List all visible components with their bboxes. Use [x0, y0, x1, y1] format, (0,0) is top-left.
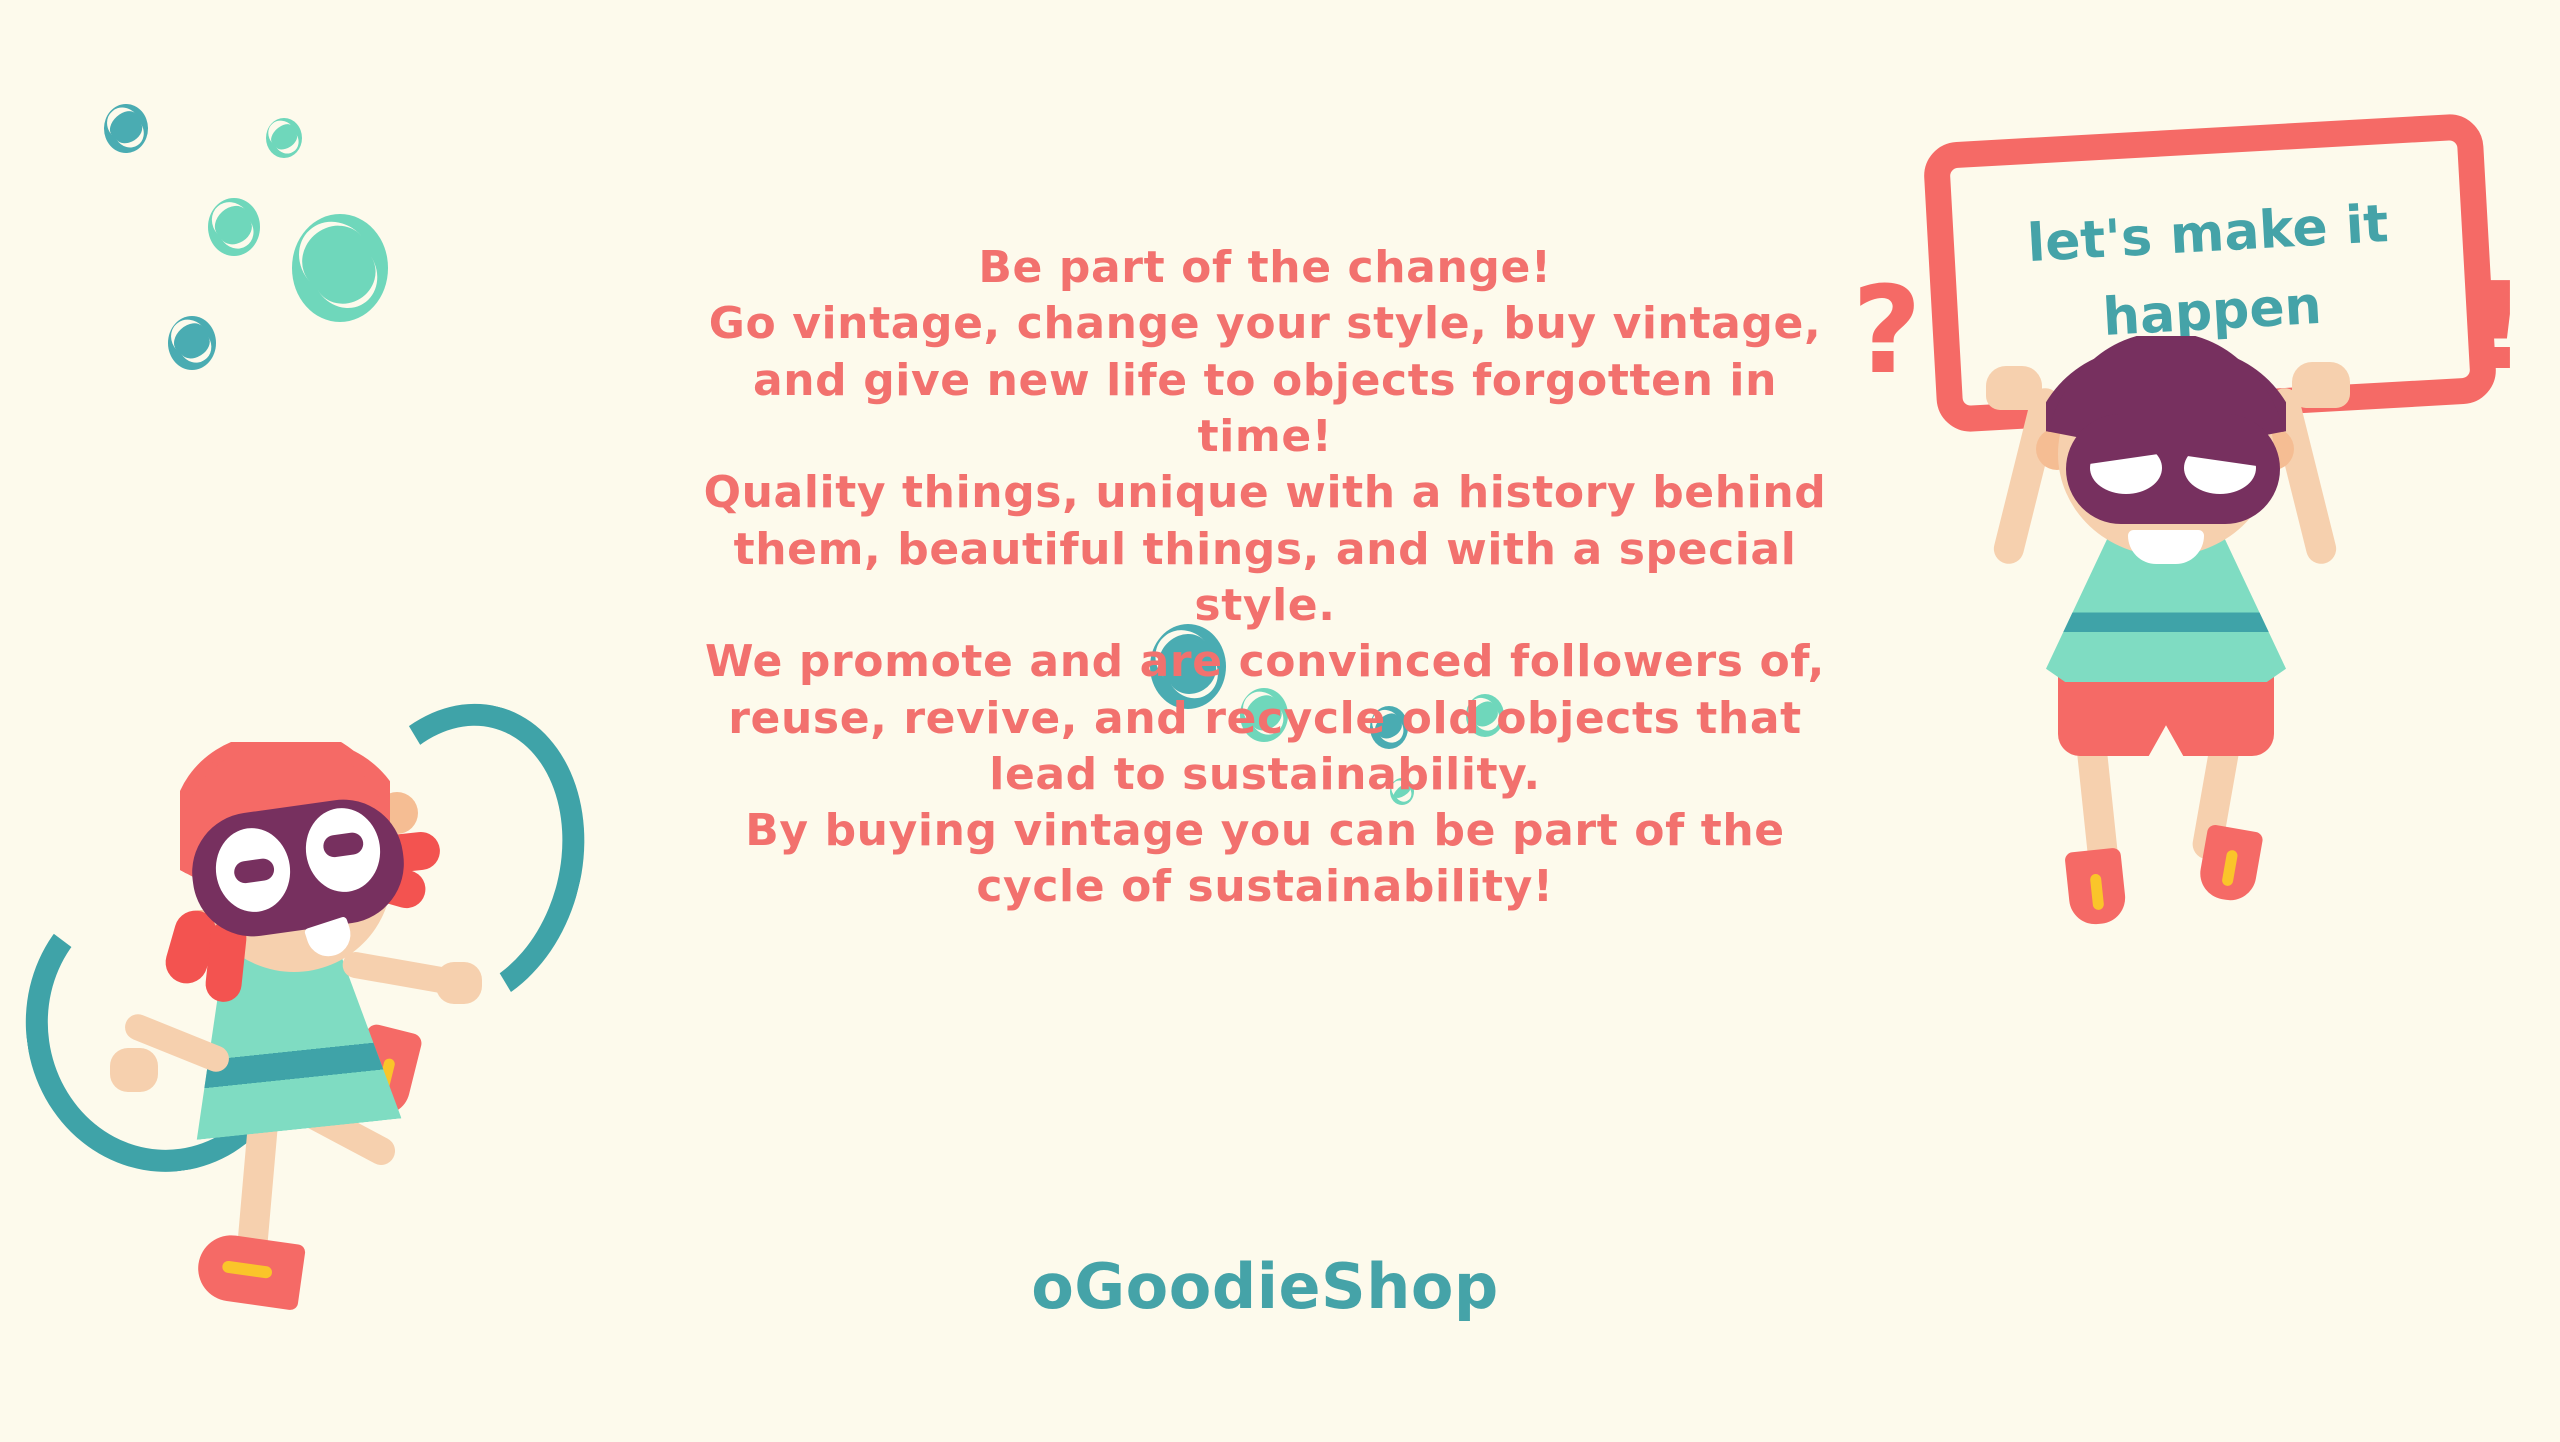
boy-character	[1940, 330, 2460, 950]
boy-left-hand	[1986, 366, 2042, 410]
girl-right-pupil	[322, 831, 365, 858]
boy-right-shoe-stripe	[2221, 849, 2238, 886]
girl-character	[20, 730, 680, 1390]
message-body: Be part of the change! Go vintage, chang…	[690, 240, 1840, 916]
brand-name: oGoodieShop	[690, 1250, 1840, 1323]
boy-right-shoe	[2196, 824, 2264, 905]
bubble-upper-mid	[266, 118, 302, 158]
bubble-left-mid	[208, 198, 260, 256]
exclamation-mark-icon: !	[2472, 268, 2527, 388]
bubble-left-lower	[168, 316, 216, 370]
bubble-top-left	[104, 104, 148, 153]
sign-line-1: let's make it	[2026, 198, 2390, 270]
girl-left-shoe-stripe	[222, 1260, 273, 1279]
boy-left-shoe-stripe	[2090, 873, 2105, 910]
girl-left-pupil	[233, 857, 276, 884]
girl-right-hand	[436, 962, 482, 1004]
bubble-large-left	[292, 214, 388, 322]
boy-left-arm	[1991, 385, 2064, 567]
girl-left-hand	[110, 1048, 158, 1092]
girl-left-shoe	[194, 1231, 306, 1311]
boy-left-shoe	[2064, 847, 2127, 926]
boy-right-hand	[2292, 362, 2350, 408]
question-mark-icon: ?	[1852, 272, 1922, 392]
poster-canvas: let's make it happen ? !	[0, 0, 2560, 1442]
